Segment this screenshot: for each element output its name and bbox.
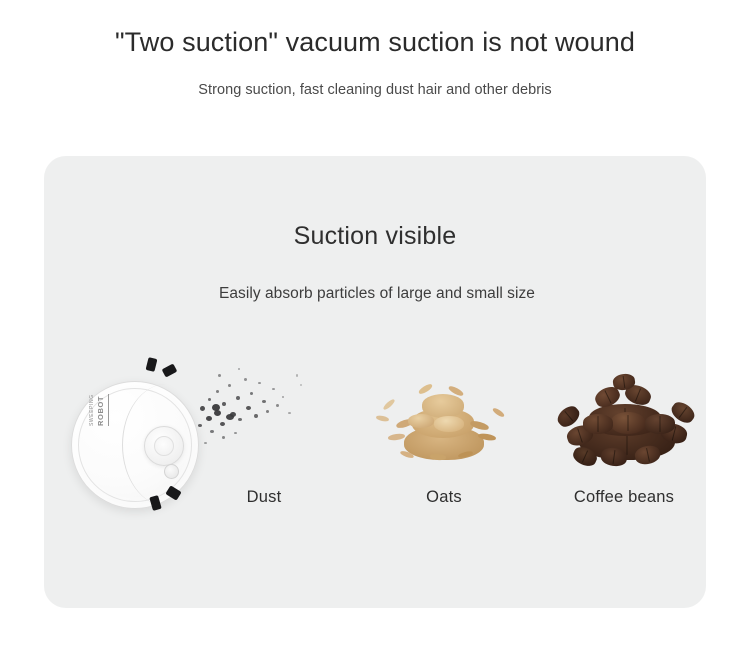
oats-pile [374,364,514,469]
debris-chunk [162,363,178,377]
feature-card: Suction visible Easily absorb particles … [44,156,706,608]
robot-lidar-turret [144,426,184,466]
item-label-dust: Dust [204,488,324,507]
page-header: "Two suction" vacuum suction is not woun… [0,0,750,98]
dust-particles [192,354,322,474]
debris-chunk [146,357,158,372]
item-labels: Dust Oats Coffee beans [44,488,706,512]
robot-brand-label: SWEEPING ROBOT [89,394,109,426]
robot-brand-line-1: SWEEPING [89,394,96,426]
coffee-beans-pile [549,364,699,469]
showcase-row: SWEEPING ROBOT [44,336,706,536]
card-title: Suction visible [44,156,706,251]
item-label-coffee: Coffee beans [549,488,699,507]
item-label-oats: Oats [384,488,504,507]
page-title: "Two suction" vacuum suction is not woun… [0,26,750,60]
robot-brand-line-2: ROBOT [96,394,109,426]
robot-power-button [164,464,179,479]
card-description: Easily absorb particles of large and sma… [219,284,549,305]
page-subtitle: Strong suction, fast cleaning dust hair … [0,82,750,98]
